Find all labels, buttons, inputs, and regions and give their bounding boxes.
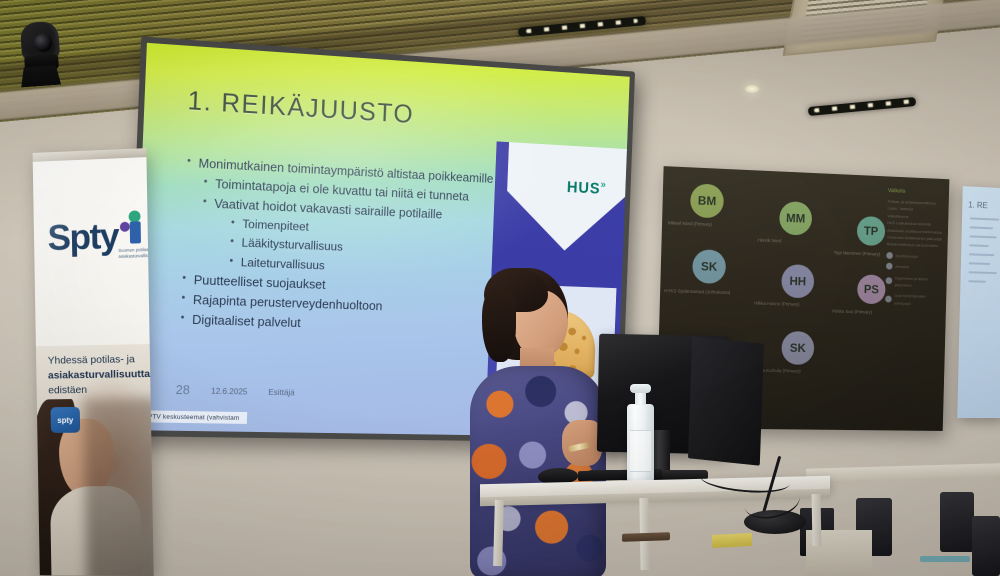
text-line (968, 280, 986, 283)
background-chair (940, 492, 974, 552)
presentation-photo-scene: BM Mikael Nord (Primary) MM Henrik Nord … (0, 0, 1000, 576)
spty-rollup-banner: Spty Suomen potilas- ja asiakasturvallis… (33, 148, 154, 576)
tertiary-projection-screen: 1. RE (957, 186, 1000, 418)
bullet-dot-icon: • (182, 270, 186, 284)
banner-headline-line-1: Yhdessä potilas- ja (48, 352, 142, 368)
bullet-dot-icon: • (181, 290, 185, 304)
bottle-neck (635, 391, 646, 405)
text-line (969, 244, 989, 247)
text-line (969, 262, 991, 265)
desk-leg (493, 500, 504, 566)
background-chair (972, 516, 1000, 576)
slide-footer: 28 12.6.2025 Esittäjä (175, 382, 518, 404)
slide-page-number: 28 (175, 382, 190, 397)
bullet-dot-icon: • (203, 194, 207, 208)
bullet-dot-icon: • (180, 310, 184, 324)
bullet-dot-icon: • (230, 234, 234, 248)
presenter-hair-side (482, 290, 516, 362)
text-line (969, 235, 996, 238)
slide-title: 1. REIKÄJUUSTO (187, 85, 415, 129)
wall-camera-icon (16, 20, 66, 89)
bullet-dot-icon: • (231, 215, 235, 229)
desk-leg (812, 494, 822, 546)
bullet-dot-icon: • (229, 253, 233, 267)
tertiary-screen-title: 1. RE (968, 200, 1000, 211)
spty-logo-mark-icon (120, 210, 142, 245)
text-line (970, 217, 999, 220)
logo-dot-purple (120, 222, 130, 232)
bottle-pump[interactable] (630, 384, 651, 393)
bullet-dot-icon: • (187, 153, 191, 167)
camera-mount-plate (20, 65, 61, 88)
banner-headline-line-3: edistäen (48, 382, 142, 398)
bullet-dot-icon: • (204, 174, 208, 188)
slide-date: 12.6.2025 (211, 385, 248, 396)
background-accent-strip (920, 556, 970, 562)
yellow-note (712, 533, 752, 548)
secondary-monitor (688, 336, 764, 465)
text-line (969, 271, 997, 274)
spty-logo-text: Spty (47, 215, 118, 259)
banner-headline: Yhdessä potilas- ja asiakasturvallisuutt… (48, 352, 143, 398)
desk-object (622, 532, 670, 542)
banner-shadow-overlay (84, 398, 154, 576)
hus-logo-superscript: » (600, 179, 607, 190)
spty-badge-icon: spty (51, 407, 81, 433)
ceiling-downlight-icon (745, 85, 759, 93)
hand-sanitizer-bottle (627, 404, 654, 484)
presenter (470, 268, 610, 576)
bullet-text: Digitaaliset palvelut (192, 310, 301, 333)
slide-bottom-banner: SPTV keskusteemat (vahvistam (137, 410, 247, 424)
text-line (970, 226, 993, 229)
camera-lens (34, 33, 53, 52)
text-line (969, 253, 994, 256)
banner-headline-line-2: asiakasturvallisuutta (48, 368, 150, 382)
slide-presenter: Esittäjä (268, 387, 295, 397)
logo-bar-blue (130, 221, 141, 243)
bottle-label (630, 430, 651, 472)
